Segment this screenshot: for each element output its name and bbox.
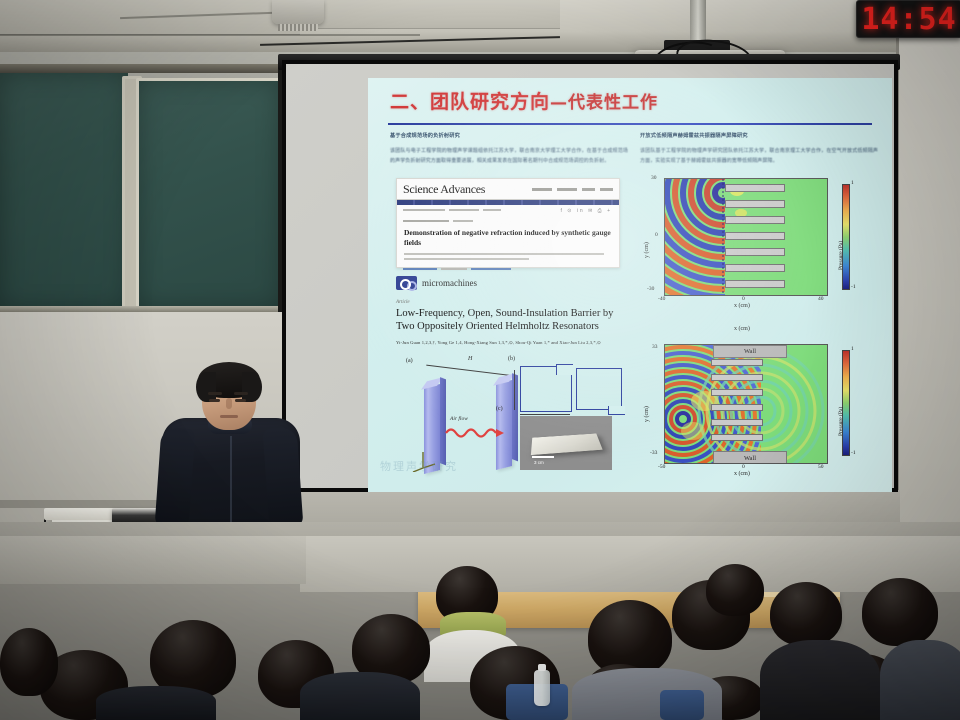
audience-jacket <box>760 640 880 720</box>
barrier-slot <box>711 374 763 381</box>
presenter-mouth <box>220 415 238 418</box>
resonator-neck-1 <box>556 364 573 375</box>
dim-b-vertical <box>514 370 515 410</box>
resonator-slot <box>725 264 785 272</box>
chart2-ytick-min: -33 <box>650 450 657 456</box>
micromachines-article-title: Low-Frequency, Open, Sound-Insulation Ba… <box>396 307 620 333</box>
water-bottle <box>534 670 550 706</box>
slide-title-sub: —代表性工作 <box>550 93 658 113</box>
ceiling-seam-1 <box>0 34 420 36</box>
resonator-neck-2 <box>608 406 625 415</box>
chart2-colorbar-min: -1 <box>851 450 856 456</box>
chart2-xlabel-bottom: x (cm) <box>734 471 750 477</box>
chart1-ytick-min: -30 <box>647 286 654 292</box>
right-column-heading: 开放式低频隔声赫姆霍兹共振器隔声屏障研究 <box>640 132 878 141</box>
left-column-heading: 基于合成规范场的负折射研究 <box>390 132 628 141</box>
resonator-slot <box>725 248 785 256</box>
slide-title-underline <box>388 123 872 125</box>
science-advances-tag-row <box>397 216 619 224</box>
chart1-ytick-max: 30 <box>651 175 657 181</box>
nav-item <box>532 188 552 191</box>
slide-title-main: 二、团队研究方向 <box>390 91 550 113</box>
chart1-colorbar-max: 1 <box>851 180 854 186</box>
chart2-xtick-min: -50 <box>658 464 665 470</box>
blackboard-panel-left <box>0 73 128 309</box>
micromachines-article-kind: Article <box>396 300 410 305</box>
slide-watermark: 物理声学研究 <box>380 458 458 474</box>
presenter-right-arm <box>263 427 304 529</box>
presenter-eye-left <box>209 399 220 402</box>
audience-head <box>862 578 938 646</box>
science-advances-logo: Science Advances <box>403 182 485 197</box>
clock-time-display: 14:54 <box>861 2 956 37</box>
resonator-slot <box>725 184 785 192</box>
science-advances-author-lines <box>397 253 619 260</box>
slide-left-column: 基于合成规范场的负折射研究 该团队与电子工程学院的物理声学课题组依托江苏大学，联… <box>390 132 628 166</box>
airflow-label: Air flow <box>450 416 468 422</box>
nav-item <box>557 188 577 191</box>
chart2-xtick-max: 50 <box>818 464 824 470</box>
science-advances-article-title: Demonstration of negative refraction ind… <box>397 224 619 250</box>
dim-b-horizontal <box>520 414 570 415</box>
audience-jacket <box>96 686 216 720</box>
audience-head <box>0 628 58 696</box>
slide-title: 二、团队研究方向—代表性工作 <box>390 87 658 114</box>
dimension-line <box>426 365 513 377</box>
chart1-ylabel: y (cm) <box>644 242 650 258</box>
helmholtz-resonator-cell-2 <box>576 368 622 410</box>
presenter-hair-side-right <box>242 372 262 402</box>
chart1-xtick-mid: 0 <box>742 296 745 302</box>
audience-jacket <box>880 640 960 720</box>
micromachines-wordmark: micromachines <box>422 278 477 288</box>
presenter-brow-left <box>208 392 222 395</box>
audience-wall-strip <box>300 536 960 592</box>
audience-head <box>770 582 842 646</box>
barrier-slot <box>711 404 763 411</box>
chart1-colorbar <box>842 184 850 290</box>
barrier-slot <box>711 389 763 396</box>
ceiling-vent-strip <box>278 24 318 31</box>
chart2-xlabel-top: x (cm) <box>734 326 750 332</box>
barrier-slot <box>711 359 763 366</box>
chart2-wall-bottom: Wall <box>713 451 787 464</box>
presenter-hair-side-left <box>196 372 216 402</box>
dimension-label-H: H <box>468 356 472 362</box>
chart2-xtick-mid: 0 <box>742 464 745 470</box>
science-advances-header: Science Advances <box>397 179 619 200</box>
right-column-body: 该团队基于工程学院的物理声学研究团队依托江苏大学，联合南京理工大学合作，在空气开… <box>640 146 878 166</box>
speaker-at-podium <box>158 362 304 530</box>
resonator-slot <box>725 232 785 240</box>
chart-sound-insulation: x (cm) y (cm) 33 -33 <box>642 328 874 480</box>
chart1-xtick-min: -40 <box>658 296 665 302</box>
barrier-slot <box>711 434 763 441</box>
slide-right-column: 开放式低频隔声赫姆霍兹共振器隔声屏障研究 该团队基于工程学院的物理声学研究团队依… <box>640 132 878 166</box>
science-advances-footer <box>397 264 619 272</box>
chart2-colorbar <box>842 350 850 456</box>
presenter-jacket-zipper <box>230 436 232 526</box>
ceiling-panel-mid <box>300 0 560 29</box>
nav-item <box>600 188 613 191</box>
chart2-ylabel: y (cm) <box>644 406 650 422</box>
audience-head <box>706 564 764 616</box>
micromachines-authors: Yi-Jun Guan 1,2,3,†, Yong Ge 1,4, Hong-X… <box>396 340 622 346</box>
wall-right-of-screen <box>898 34 960 534</box>
chart1-colorbar-label: Pressure (Pa) <box>838 241 844 270</box>
chart2-ytick-max: 33 <box>652 344 658 350</box>
resonator-slot <box>725 280 785 288</box>
figure-label-a: (a) <box>406 358 413 364</box>
science-advances-screenshot: Science Advances f ⊙ in ✉ ⎙ + Demonstrat… <box>396 178 620 268</box>
blackboard-top-rail <box>0 64 290 73</box>
left-column-body: 该团队与电子工程学院的物理声学课题组依托江苏大学，联合南京大学理工大学合作，在基… <box>390 146 628 166</box>
resonator-slot <box>725 216 785 224</box>
presenter-nose <box>226 398 232 409</box>
sound-wave-arrow <box>444 424 506 440</box>
chart-negative-refraction: y (cm) 30 0 -30 <box>642 174 874 312</box>
barrier-slot <box>711 419 763 426</box>
chart2-wall-top: Wall <box>713 345 787 358</box>
audience-wall-strip-left <box>0 536 306 584</box>
chart1-xlabel: x (cm) <box>734 303 750 309</box>
scale-bar-label: 3 cm <box>534 460 544 465</box>
presenter-brow-right <box>234 392 248 395</box>
chart1-pressure-field <box>664 178 828 296</box>
ceiling-speaker <box>272 0 324 24</box>
presenter-left-arm <box>155 427 196 529</box>
chart2-pressure-field: Wall Wall <box>664 344 828 464</box>
resonator-photo: 3 cm <box>520 416 612 470</box>
chart1-colorbar-min: -1 <box>851 284 856 290</box>
science-advances-nav <box>532 188 613 191</box>
chart1-ytick-mid: 0 <box>655 232 658 238</box>
audience-chair-back <box>660 690 704 720</box>
audience-jacket <box>300 672 420 720</box>
figure-label-b: (b) <box>508 356 515 362</box>
nav-item <box>582 188 595 191</box>
presenter-eye-right <box>235 399 246 402</box>
blackboard-frame-right <box>136 78 288 316</box>
chart2-colorbar-label: Pressure (Pa) <box>838 407 844 436</box>
digital-wall-clock: 14:54 <box>856 0 960 38</box>
chart2-colorbar-max: 1 <box>851 346 854 352</box>
resonator-slot <box>725 200 785 208</box>
micromachines-logo-icon <box>396 276 417 290</box>
share-icons: f ⊙ in ✉ ⎙ + <box>560 208 612 214</box>
figure-label-c: (c) <box>496 406 503 412</box>
lecture-hall-photo: 14:54 二、团队研究方向—代表性工作 基于合成规范场的负折射研究 该团队与电… <box>0 0 960 720</box>
projected-slide: 二、团队研究方向—代表性工作 基于合成规范场的负折射研究 该团队与电子工程学院的… <box>368 78 892 492</box>
chart1-xtick-max: 40 <box>818 296 824 302</box>
